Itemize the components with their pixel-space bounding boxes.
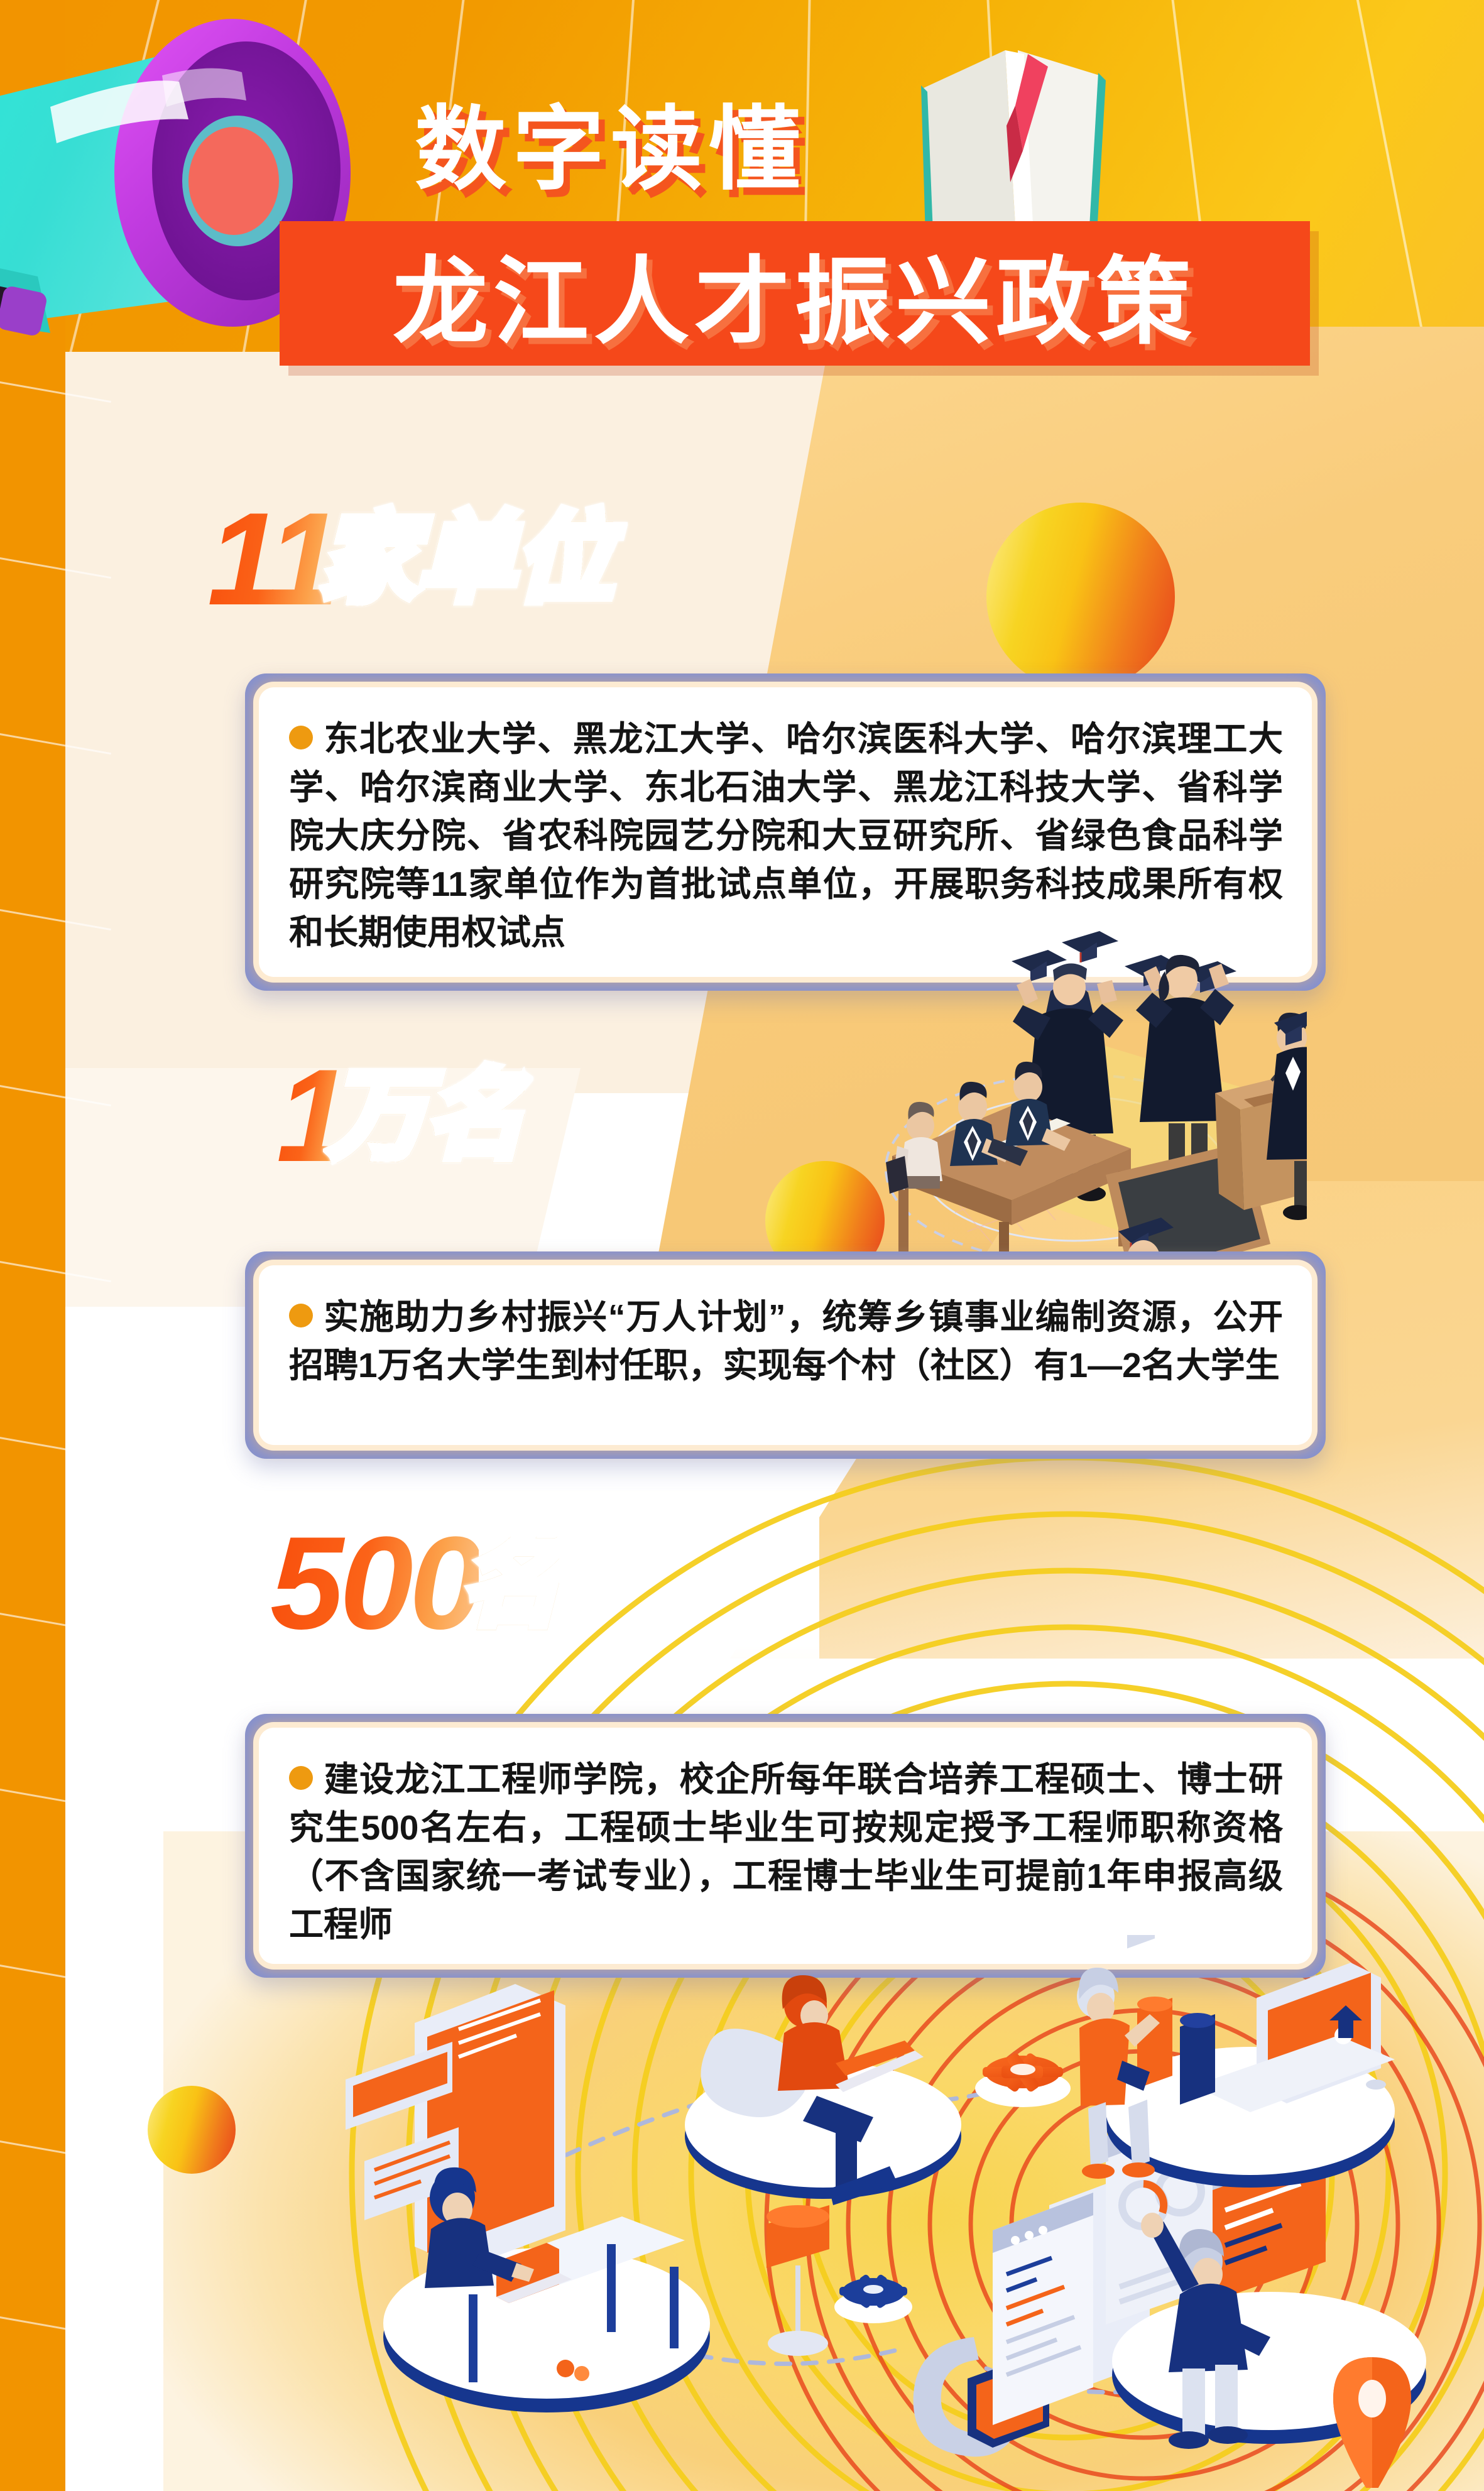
stat-heading-ten-thousand: 1 万名 xyxy=(276,1059,525,1173)
policy-card-ten-thousand: 实施助力乡村振兴“万人计划”，统筹乡镇事业编制资源，公开招聘1万名大学生到村任职… xyxy=(245,1251,1326,1459)
policy-card-inner: 建设龙江工程师学院，校企所每年联合培养工程硕士、博士研究生500名左右，工程硕士… xyxy=(259,1728,1312,1964)
stat-heading-units: 11 家单位 xyxy=(207,503,613,616)
stat-number: 500 xyxy=(270,1527,479,1640)
page-title-main: 龙江人才振兴政策 xyxy=(280,221,1310,366)
title-banner: 龙江人才振兴政策 xyxy=(280,221,1310,366)
infographic-poster: 数字读懂 龙江人才振兴政策 11 家单位 东北农业大学、黑龙江大学、哈尔滨医科大… xyxy=(0,0,1484,2491)
bullet-dot xyxy=(289,1766,313,1790)
stat-word: 名 xyxy=(461,1537,559,1630)
policy-card-text: 建设龙江工程师学院，校企所每年联合培养工程硕士、博士研究生500名左右，工程硕士… xyxy=(289,1755,1283,1949)
bullet-dot xyxy=(289,1304,313,1327)
stat-number: 11 xyxy=(207,503,337,616)
policy-card-text: 实施助力乡村振兴“万人计划”，统筹乡镇事业编制资源，公开招聘1万名大学生到村任职… xyxy=(289,1293,1283,1390)
stat-word: 万名 xyxy=(329,1069,525,1162)
isometric-tech-workplace-illustration xyxy=(270,1935,1451,2488)
stat-heading-five-hundred: 500 名 xyxy=(270,1527,559,1640)
decorative-sphere-small xyxy=(148,2086,236,2174)
stat-word: 家单位 xyxy=(319,513,613,606)
policy-text-five-hundred: 建设龙江工程师学院，校企所每年联合培养工程硕士、博士研究生500名左右，工程硕士… xyxy=(289,1760,1283,1944)
bullet-dot xyxy=(289,726,313,749)
policy-card-inner: 实施助力乡村振兴“万人计划”，统筹乡镇事业编制资源，公开招聘1万名大学生到村任职… xyxy=(259,1265,1312,1445)
page-title-top: 数字读懂 xyxy=(415,75,807,208)
left-orange-band xyxy=(0,0,65,2491)
policy-text-ten-thousand: 实施助力乡村振兴“万人计划”，统筹乡镇事业编制资源，公开招聘1万名大学生到村任职… xyxy=(289,1297,1283,1385)
decorative-sphere-large xyxy=(986,503,1175,691)
